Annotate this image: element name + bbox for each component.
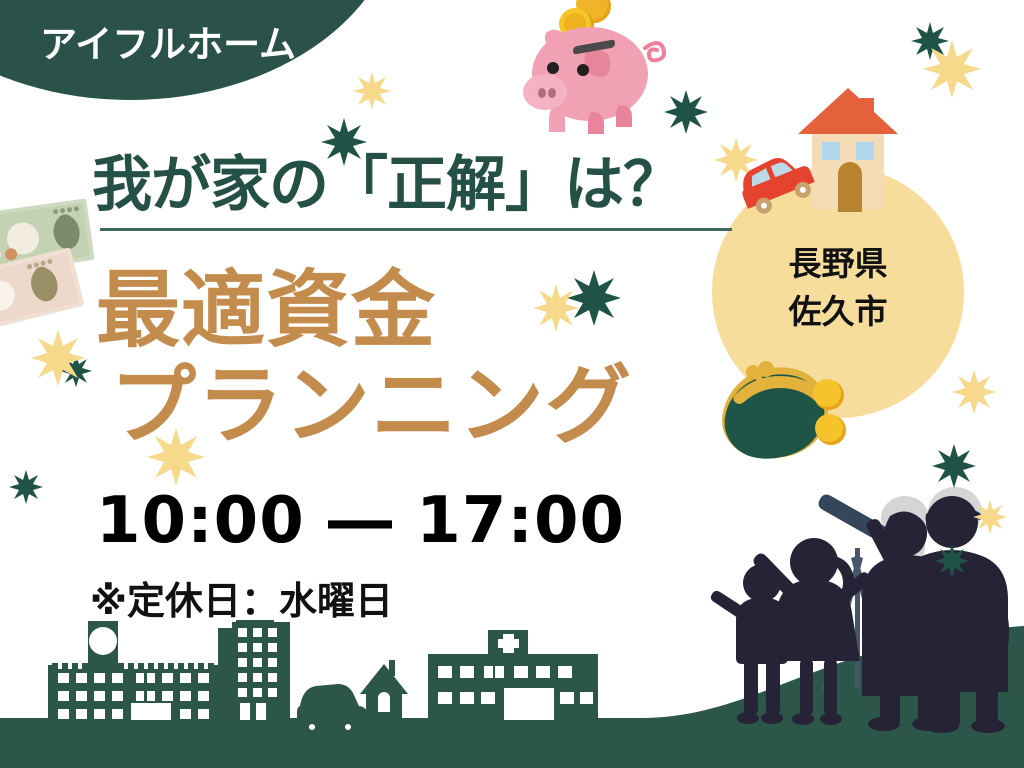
closed-days-note: ※定休日：水曜日	[90, 570, 393, 625]
page-headline: 我が家の「正解」は？	[92, 136, 682, 223]
headline-divider	[100, 228, 732, 231]
event-hours: 10:00 ― 17:00	[96, 484, 625, 558]
poster-canvas: 長野県 佐久市	[0, 0, 1024, 768]
main-title-line-2: プランニング	[110, 335, 632, 460]
brand-logo-text: アイフルホーム	[40, 14, 296, 68]
